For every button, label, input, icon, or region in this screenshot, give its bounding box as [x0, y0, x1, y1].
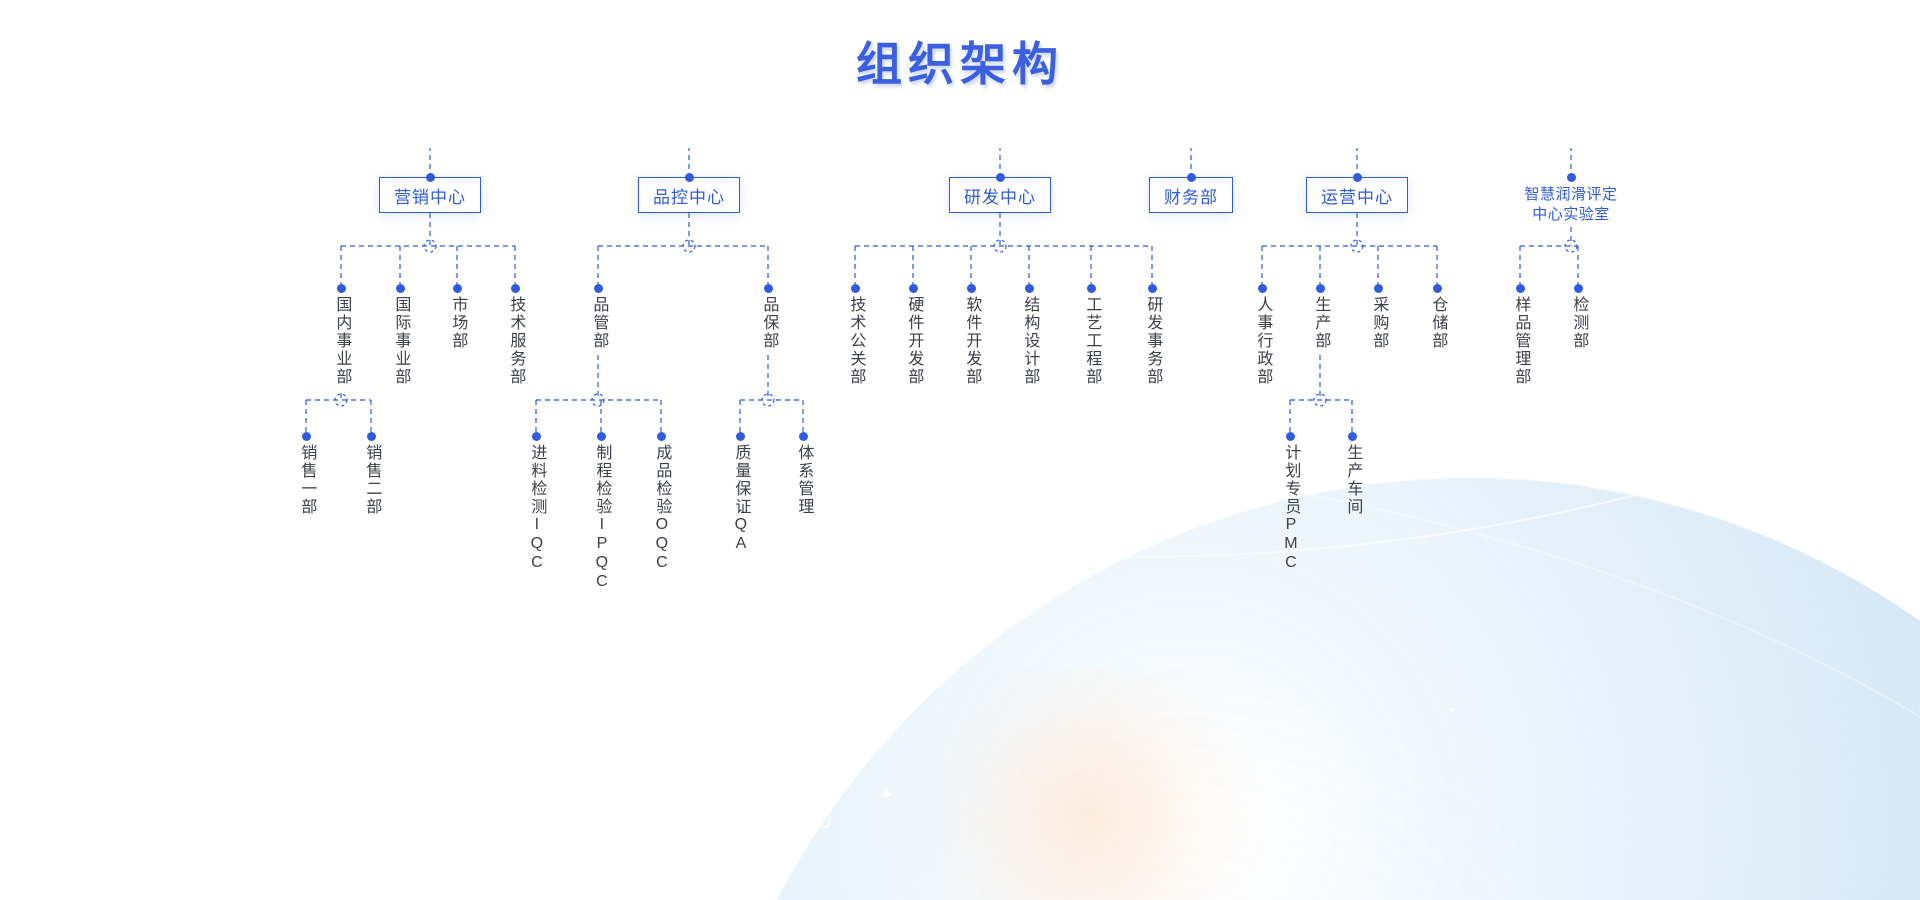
- node-team-2[interactable]: 销售二部: [363, 444, 380, 516]
- connector-dot-icon: [1258, 284, 1267, 293]
- node-department-6[interactable]: 品保部: [760, 296, 777, 350]
- node-team-8[interactable]: 计划专员PMC: [1282, 444, 1299, 573]
- connector-dot-icon: [764, 284, 773, 293]
- connector-dot-icon: [302, 432, 311, 441]
- connector-dot-icon: [453, 284, 462, 293]
- node-division-3[interactable]: 研发中心: [949, 177, 1051, 213]
- connector-dot-icon: [736, 432, 745, 441]
- connector-dot-icon: [1433, 284, 1442, 293]
- node-team-1[interactable]: 销售一部: [298, 444, 315, 516]
- connector-dot-icon: [657, 432, 666, 441]
- sparkle-dot: [220, 768, 223, 771]
- connector-dot-icon: [1574, 284, 1583, 293]
- connector-dot-icon: [532, 432, 541, 441]
- marker-dot-icon: [155, 844, 179, 868]
- page-title: 组织架构: [0, 28, 1920, 94]
- node-department-7[interactable]: 技术公关部: [847, 296, 864, 386]
- connector-dot-icon: [597, 432, 606, 441]
- connector-dot-icon: [396, 284, 405, 293]
- node-team-5[interactable]: 成品检验OQC: [653, 444, 670, 573]
- node-department-15[interactable]: 采购部: [1370, 296, 1387, 350]
- node-department-17[interactable]: 样品管理部: [1512, 296, 1529, 386]
- connector-dot-icon: [1286, 432, 1295, 441]
- sparkle-icon: ✦: [880, 788, 893, 804]
- node-division-2[interactable]: 品控中心: [638, 177, 740, 213]
- node-department-8[interactable]: 硬件开发部: [905, 296, 922, 386]
- connector-dot-icon: [967, 284, 976, 293]
- node-department-9[interactable]: 软件开发部: [963, 296, 980, 386]
- node-team-3[interactable]: 进料检测IQC: [528, 444, 545, 573]
- org-chart-page: 组织架构 ✦ ✦ ✦ 284.000264,000182,000543,0001…: [0, 0, 1920, 900]
- node-division-5[interactable]: 运营中心: [1306, 177, 1408, 213]
- connector-dot-icon: [337, 284, 346, 293]
- connector-dot-icon: [909, 284, 918, 293]
- connector-dot-icon: [367, 432, 376, 441]
- connector-dot-icon: [426, 173, 435, 182]
- node-department-3[interactable]: 市场部: [449, 296, 466, 350]
- connector-dot-icon: [511, 284, 520, 293]
- node-division-6[interactable]: 智慧润滑评定 中心实验室: [1501, 185, 1641, 225]
- node-department-11[interactable]: 工艺工程部: [1083, 296, 1100, 386]
- connector-dot-icon: [594, 284, 603, 293]
- connector-dot-icon: [1148, 284, 1157, 293]
- connector-dot-icon: [1348, 432, 1357, 441]
- node-department-13[interactable]: 人事行政部: [1254, 296, 1271, 386]
- connector-dot-icon: [1187, 173, 1196, 182]
- connector-dot-icon: [1316, 284, 1325, 293]
- connector-dot-icon: [685, 173, 694, 182]
- node-team-7[interactable]: 体系管理: [795, 444, 812, 516]
- connector-dot-icon: [799, 432, 808, 441]
- node-team-9[interactable]: 生产车间: [1344, 444, 1361, 516]
- node-department-14[interactable]: 生产部: [1312, 296, 1329, 350]
- connector-dot-icon: [1374, 284, 1383, 293]
- node-department-2[interactable]: 国际事业部: [392, 296, 409, 386]
- node-department-1[interactable]: 国内事业部: [333, 296, 350, 386]
- node-department-10[interactable]: 结构设计部: [1021, 296, 1038, 386]
- connector-dot-icon: [1516, 284, 1525, 293]
- connector-dot-icon: [1025, 284, 1034, 293]
- node-department-18[interactable]: 检测部: [1570, 296, 1587, 350]
- connector-dot-icon: [851, 284, 860, 293]
- marker-value: 133,000: [171, 812, 258, 838]
- connector-dot-icon: [1353, 173, 1362, 182]
- connector-dot-icon: [1087, 284, 1096, 293]
- node-department-12[interactable]: 研发事务部: [1144, 296, 1161, 386]
- node-team-4[interactable]: 制程检验IPQC: [593, 444, 610, 592]
- node-department-5[interactable]: 品管部: [590, 296, 607, 350]
- page-header: 组织架构: [0, 0, 1920, 148]
- marker-value: 123,000: [746, 808, 833, 834]
- node-team-6[interactable]: 质量保证QA: [732, 444, 749, 554]
- connector-dot-icon: [1567, 173, 1576, 182]
- marker-dot-icon: [730, 840, 754, 864]
- node-department-4[interactable]: 技术服务部: [507, 296, 524, 386]
- connector-dot-icon: [996, 173, 1005, 182]
- node-division-4[interactable]: 财务部: [1149, 177, 1233, 213]
- node-department-16[interactable]: 仓储部: [1429, 296, 1446, 350]
- node-division-1[interactable]: 营销中心: [379, 177, 481, 213]
